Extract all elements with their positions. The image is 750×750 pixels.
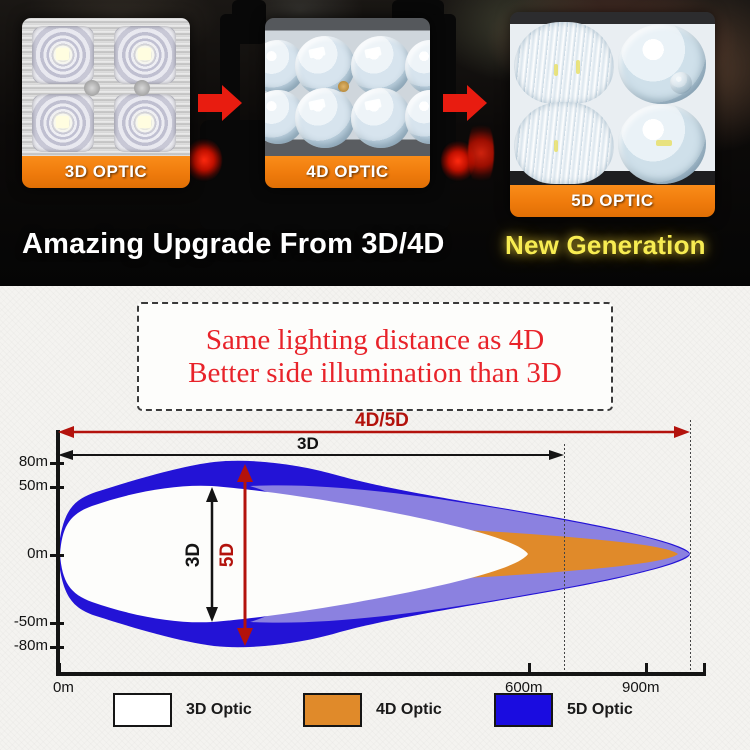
legend-label-3d: 3D Optic (186, 701, 252, 719)
page-root: 3D OPTIC (0, 0, 750, 750)
headline-amazing-upgrade: Amazing Upgrade From 3D/4D (22, 228, 445, 261)
plot-canvas: 80m 50m 0m -50m -80m 0m 600m 900m (0, 286, 750, 750)
legend-label-5d: 5D Optic (567, 701, 633, 719)
reflector-4d-graphic (265, 18, 430, 156)
legend-item-3d[interactable]: 3D Optic (113, 693, 252, 727)
annotation-label-4d5d: 4D/5D (355, 410, 409, 432)
right-arrow-icon (443, 85, 489, 121)
reflector-3d-graphic (22, 18, 190, 156)
tail-light-glow (468, 118, 494, 188)
optic-caption-3d: 3D OPTIC (22, 156, 190, 188)
optic-photo-4d (265, 18, 430, 156)
legend-item-5d[interactable]: 5D Optic (494, 693, 633, 727)
legend-swatch-3d (113, 693, 172, 727)
product-banner: 3D OPTIC (0, 0, 750, 286)
right-arrow-icon (198, 85, 244, 121)
optic-caption-5d: 5D OPTIC (510, 185, 715, 217)
optic-caption-4d: 4D OPTIC (265, 156, 430, 188)
annotation-label-3d-span: 3D (297, 434, 319, 454)
optic-card-4d[interactable]: 4D OPTIC (265, 18, 430, 188)
legend-swatch-4d (303, 693, 362, 727)
tail-light-glow (186, 138, 222, 182)
optic-card-5d[interactable]: 5D OPTIC (510, 12, 715, 217)
legend-swatch-5d (494, 693, 553, 727)
optic-photo-3d (22, 18, 190, 156)
reflector-5d-graphic (510, 12, 715, 185)
legend-item-4d[interactable]: 4D Optic (303, 693, 442, 727)
legend-label-4d: 4D Optic (376, 701, 442, 719)
beam-comparison-chart: Same lighting distance as 4D Better side… (0, 286, 750, 750)
annotation-label-3d-height: 3D (183, 543, 205, 567)
headline-new-generation: New Generation (505, 230, 706, 261)
chart-legend: 3D Optic 4D Optic 5D Optic (0, 687, 750, 735)
annotation-label-5d-height: 5D (217, 543, 239, 567)
optic-card-3d[interactable]: 3D OPTIC (22, 18, 190, 188)
annotation-arrows-svg (0, 286, 750, 750)
optic-photo-5d (510, 12, 715, 185)
